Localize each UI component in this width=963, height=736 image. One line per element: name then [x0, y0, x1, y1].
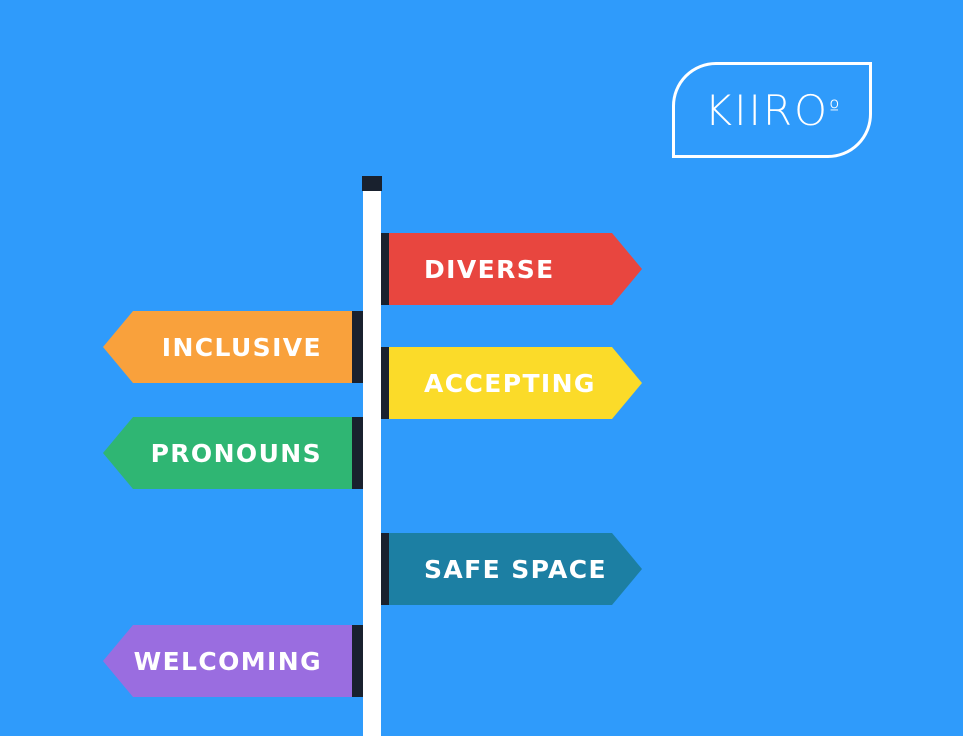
- sign-arrow-body: WELCOMING: [103, 625, 352, 697]
- sign-label: WELCOMING: [134, 647, 322, 676]
- degree-icon: º: [829, 99, 839, 121]
- sign-arrow-body: ACCEPTING: [389, 347, 642, 419]
- sign-shadow-edge: [352, 311, 363, 383]
- sign-shadow-edge: [352, 625, 363, 697]
- sign-label: ACCEPTING: [424, 369, 596, 398]
- sign-label: DIVERSE: [424, 255, 555, 284]
- signpost-sign-accepting[interactable]: ACCEPTING: [378, 347, 642, 419]
- sign-label: PRONOUNS: [151, 439, 322, 468]
- signpost-sign-inclusive[interactable]: INCLUSIVE: [103, 311, 363, 383]
- sign-arrow-body: INCLUSIVE: [103, 311, 352, 383]
- poster-canvas: KIIROº DIVERSEINCLUSIVEACCEPTINGPRONOUNS…: [0, 0, 963, 736]
- signpost-sign-safe-space[interactable]: SAFE SPACE: [378, 533, 642, 605]
- kiiro-logo-wordmark: KIIRO: [705, 86, 830, 135]
- sign-label: INCLUSIVE: [162, 333, 322, 362]
- kiiro-logo: KIIROº: [672, 62, 872, 158]
- signpost-post: [363, 176, 381, 736]
- signpost-sign-welcoming[interactable]: WELCOMING: [103, 625, 363, 697]
- signpost-sign-pronouns[interactable]: PRONOUNS: [103, 417, 363, 489]
- sign-arrow-body: DIVERSE: [389, 233, 642, 305]
- sign-arrow-body: PRONOUNS: [103, 417, 352, 489]
- kiiro-logo-text: KIIROº: [675, 65, 869, 155]
- sign-shadow-edge: [352, 417, 363, 489]
- signpost-sign-diverse[interactable]: DIVERSE: [378, 233, 642, 305]
- sign-label: SAFE SPACE: [424, 555, 607, 584]
- signpost-post-cap: [362, 176, 382, 191]
- sign-arrow-body: SAFE SPACE: [389, 533, 642, 605]
